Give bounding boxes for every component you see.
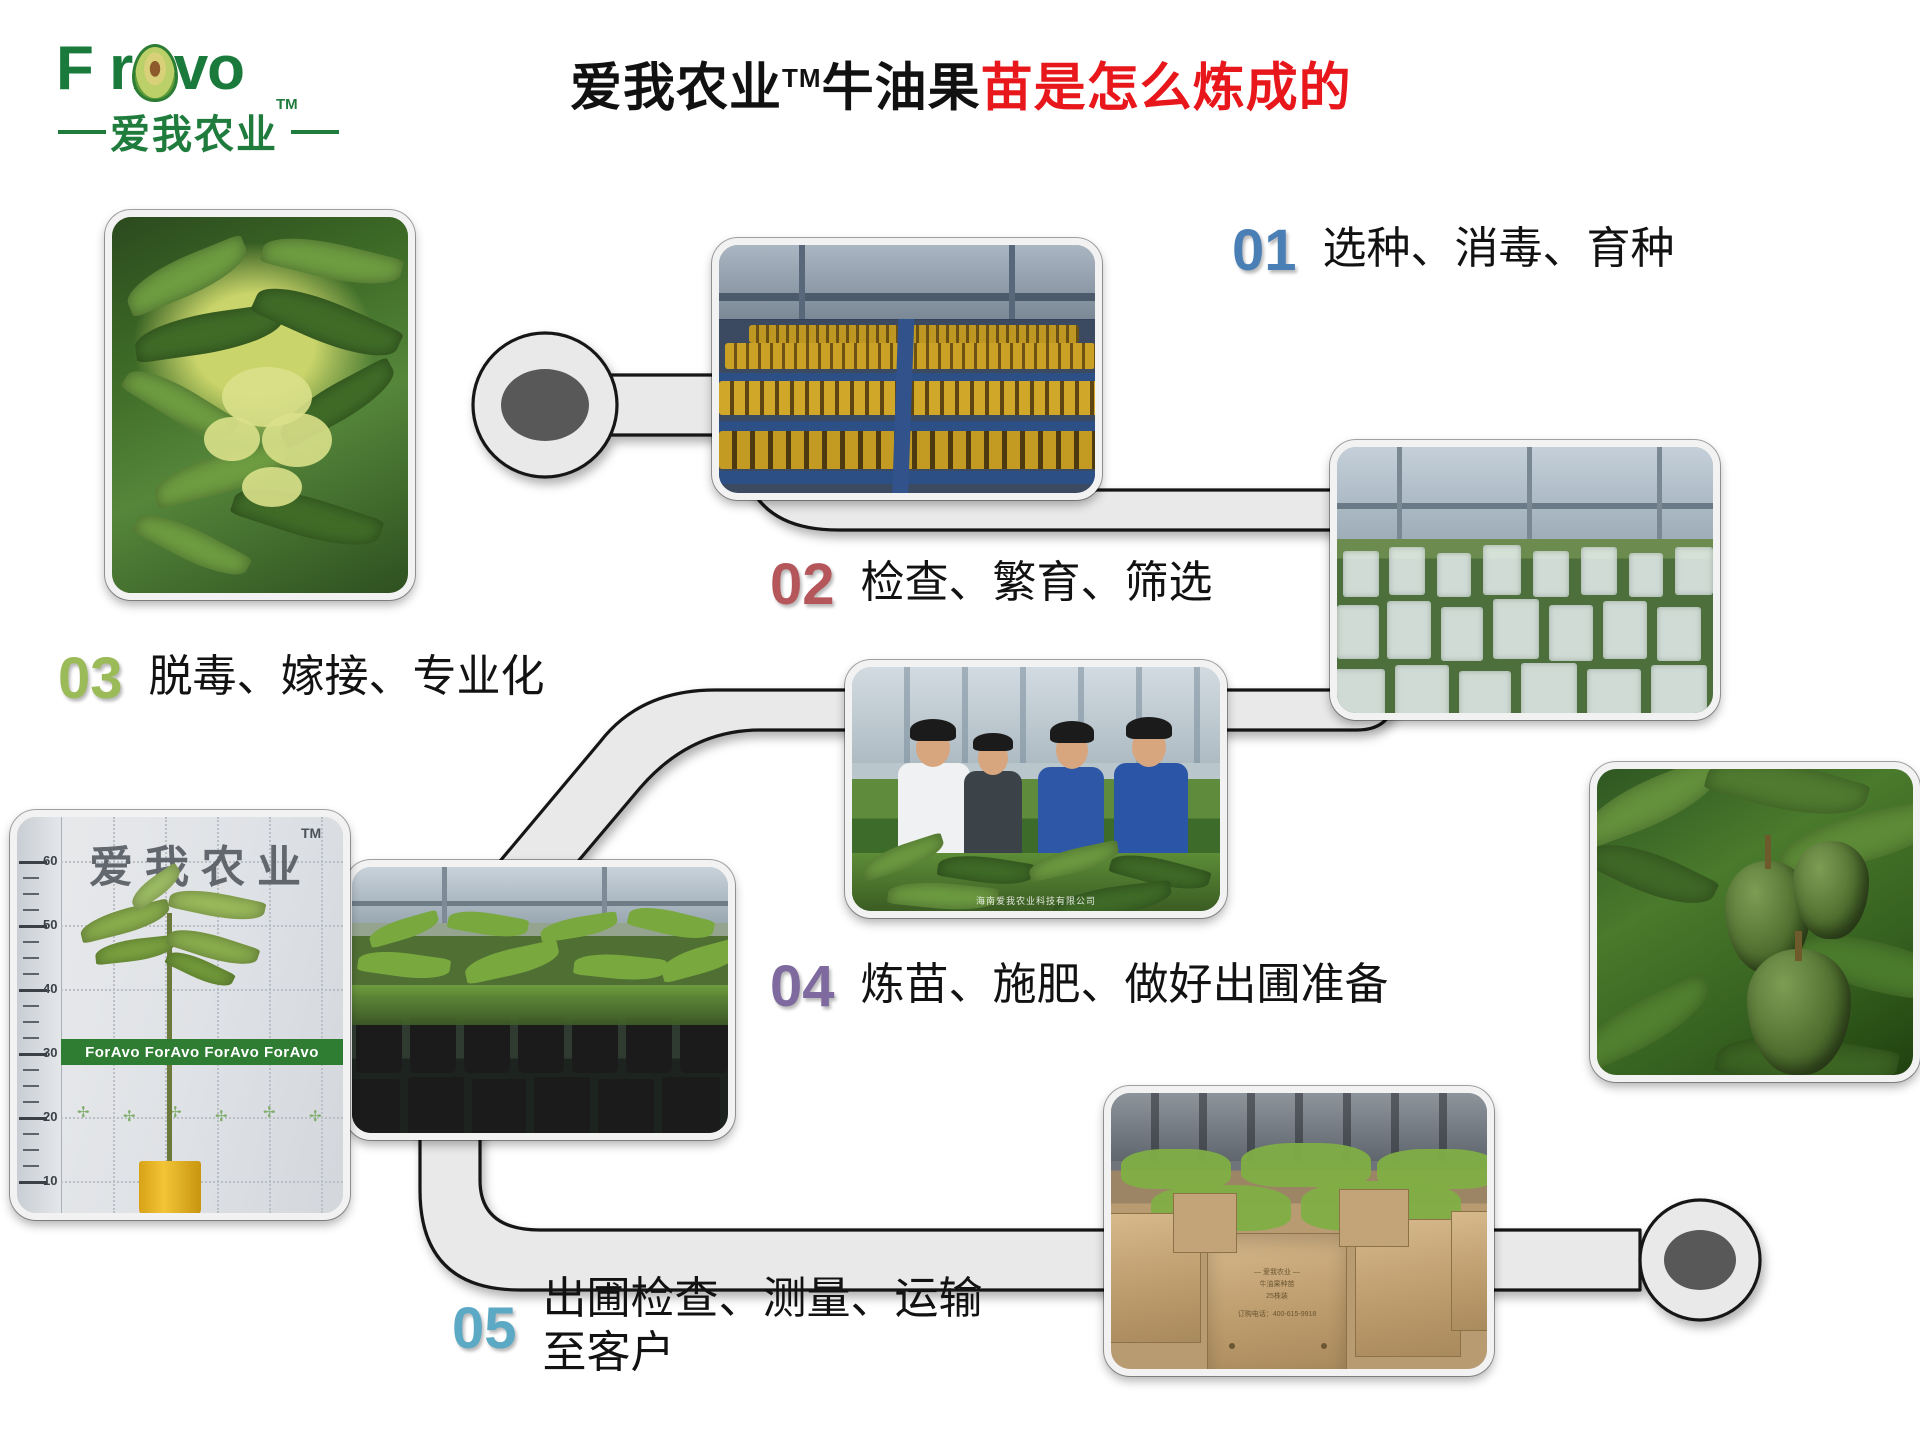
step-05: 05 出圃检查、测量、运输至客户 bbox=[452, 1272, 983, 1380]
photo-packed-shipping-boxes: — 爱我农业 — 牛油果种苗 25株装 订购电话：400-615-9918 bbox=[1104, 1086, 1494, 1376]
box-brand-line: — 爱我农业 — bbox=[1207, 1267, 1347, 1277]
step-04-label: 炼苗、施肥、做好出圃准备 bbox=[861, 958, 1389, 1012]
scale-label-40: 40 bbox=[43, 981, 57, 996]
box-qty-line: 25株装 bbox=[1207, 1291, 1347, 1301]
step-02: 02 检查、繁育、筛选 bbox=[770, 556, 1213, 614]
step-04-number: 04 bbox=[770, 958, 835, 1016]
title-part-black-2: 牛油果 bbox=[822, 59, 981, 117]
box-product-line: 牛油果种苗 bbox=[1207, 1279, 1347, 1289]
photo-staff-inspecting-seedlings: 海南爱我农业科技有限公司 bbox=[845, 660, 1227, 918]
logo-dash-right bbox=[291, 130, 339, 134]
page-title: 爱我农业TM牛油果苗是怎么炼成的 bbox=[570, 48, 1352, 118]
scale-label-50: 50 bbox=[43, 917, 57, 932]
logo-chinese-name: 爱我农业 bbox=[110, 102, 278, 160]
photo-potted-seedlings-nursery bbox=[345, 860, 735, 1140]
step-03: 03 脱毒、嫁接、专业化 bbox=[58, 650, 545, 708]
scale-label-20: 20 bbox=[43, 1109, 57, 1124]
photo-seedling-measurement-board: 60 50 40 30 20 10 爱我农业 TM ✢ ✢ ✢ ✢ ✢ ✢ bbox=[10, 810, 350, 1220]
scale-label-30: 30 bbox=[43, 1045, 57, 1060]
step-05-label: 出圃检查、测量、运输至客户 bbox=[543, 1272, 983, 1380]
board-brand-text: 爱我农业 bbox=[89, 831, 313, 895]
banner-text: ForAvo ForAvo ForAvo ForAvo bbox=[85, 1044, 319, 1061]
logo-trademark-symbol: TM bbox=[276, 96, 298, 113]
step-01: 01 选种、消毒、育种 bbox=[1232, 222, 1675, 280]
scale-label-60: 60 bbox=[43, 853, 57, 868]
photo-seed-trays-greenhouse bbox=[712, 238, 1102, 500]
step-05-label-line2: 至客户 bbox=[543, 1326, 983, 1380]
title-part-black: 爱我农业 bbox=[570, 59, 782, 117]
photo-avocados-on-tree bbox=[1590, 762, 1920, 1082]
avocado-icon bbox=[132, 44, 178, 102]
box-phone-line: 订购电话：400-615-9918 bbox=[1207, 1309, 1347, 1319]
step-02-label: 检查、繁育、筛选 bbox=[861, 556, 1213, 610]
step-02-number: 02 bbox=[770, 556, 835, 614]
infographic-canvas: F rAvo 爱我农业 TM 爱我农业TM牛油果苗是怎么炼成的 bbox=[0, 0, 1920, 1440]
step-03-number: 03 bbox=[58, 650, 123, 708]
title-trademark-symbol: TM bbox=[782, 63, 822, 93]
step-01-number: 01 bbox=[1232, 222, 1297, 280]
photo-flowering-avocado-branch bbox=[105, 210, 415, 600]
step-01-label: 选种、消毒、育种 bbox=[1323, 222, 1675, 276]
step-05-number: 05 bbox=[452, 1300, 517, 1358]
foravo-banner: ForAvo ForAvo ForAvo ForAvo bbox=[61, 1039, 343, 1065]
step-03-label: 脱毒、嫁接、专业化 bbox=[149, 650, 545, 704]
scale-label-10: 10 bbox=[43, 1173, 57, 1188]
step-04: 04 炼苗、施肥、做好出圃准备 bbox=[770, 958, 1389, 1016]
title-part-red: 苗是怎么炼成的 bbox=[981, 59, 1352, 117]
board-trademark-symbol: TM bbox=[301, 825, 321, 841]
brand-logo: F rAvo 爱我农业 TM bbox=[48, 38, 348, 148]
step-05-label-line1: 出圃检查、测量、运输 bbox=[543, 1272, 983, 1326]
photo-greenhouse-rows-bagged-plants bbox=[1330, 440, 1720, 720]
photo-watermark: 海南爱我农业科技有限公司 bbox=[852, 894, 1220, 907]
logo-dash-left bbox=[58, 130, 106, 134]
